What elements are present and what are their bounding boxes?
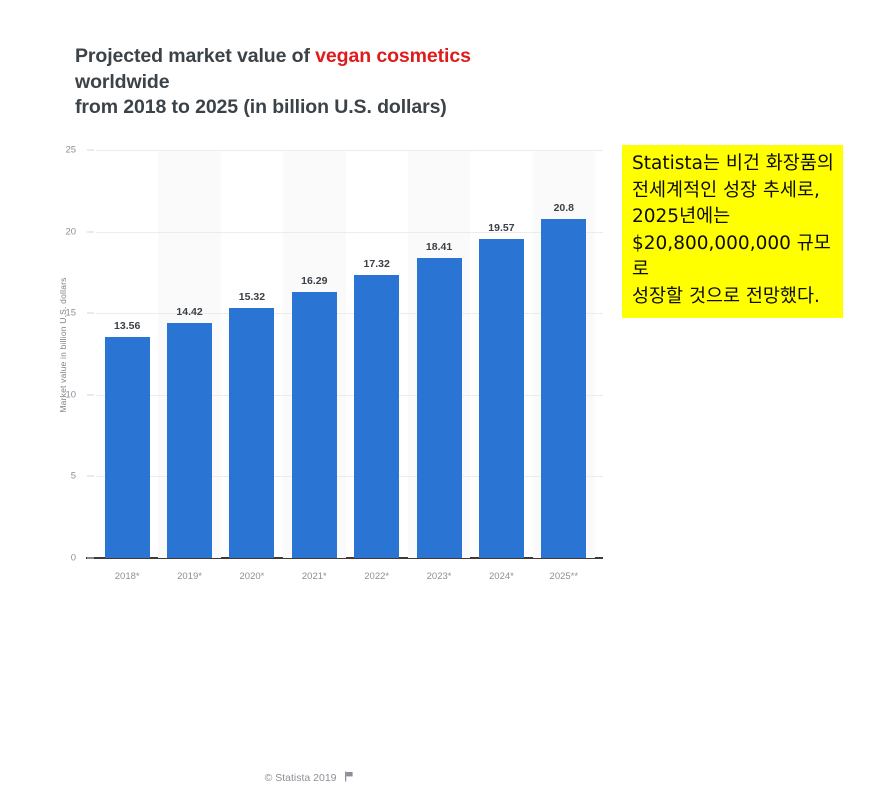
bar[interactable]: 17.322022* (354, 275, 399, 558)
y-tick-mark (87, 476, 94, 477)
x-tick-label: 2022* (364, 571, 389, 582)
x-tick-label: 2024* (489, 571, 514, 582)
page-title: Projected market value of vegan cosmetic… (75, 44, 620, 121)
x-tick-label: 2020* (240, 571, 265, 582)
x-tick-label: 2025** (550, 571, 579, 582)
bar[interactable]: 13.562018* (105, 337, 150, 558)
bar[interactable]: 16.292021* (292, 292, 337, 558)
bar-value-label: 15.32 (239, 291, 265, 303)
plot-area: 051015202513.562018*14.422019*15.322020*… (96, 150, 595, 558)
y-tick-mark (87, 231, 94, 232)
y-tick-label: 0 (71, 553, 76, 564)
y-tick-mark (87, 394, 94, 395)
flag-icon (344, 771, 355, 785)
y-tick-label: 5 (71, 471, 76, 482)
bar[interactable]: 20.82025** (541, 219, 586, 558)
y-tick-label: 25 (65, 145, 76, 156)
title-text-accent: vegan cosmetics (315, 45, 471, 67)
chart-footer: © Statista 2019 (0, 771, 620, 785)
x-tick-label: 2021* (302, 571, 327, 582)
bar[interactable]: 15.322020* (229, 308, 274, 558)
gridline (96, 150, 603, 151)
x-tick-label: 2019* (177, 571, 202, 582)
bar-value-label: 19.57 (488, 222, 514, 234)
bar-value-label: 14.42 (176, 306, 202, 318)
copyright-label: © Statista 2019 (265, 772, 337, 784)
title-text-primary: Projected market value of (75, 45, 315, 67)
bar-value-label: 13.56 (114, 320, 140, 332)
bar[interactable]: 19.572024* (479, 239, 524, 558)
y-tick-mark (87, 558, 94, 559)
gridline (96, 313, 603, 314)
title-line-2: worldwide (75, 70, 620, 96)
title-line-3: from 2018 to 2025 (in billion U.S. dolla… (75, 95, 620, 121)
y-axis-title: Market value in billion U.S. dollars (58, 255, 68, 435)
y-tick-mark (87, 150, 94, 151)
bar[interactable]: 18.412023* (417, 258, 462, 558)
bar[interactable]: 14.422019* (167, 323, 212, 558)
title-line-1: Projected market value of vegan cosmetic… (75, 44, 620, 70)
x-tick-label: 2018* (115, 571, 140, 582)
bar-value-label: 17.32 (364, 258, 390, 270)
bar-chart: Market value in billion U.S. dollars 051… (0, 126, 620, 596)
bar-value-label: 16.29 (301, 275, 327, 287)
y-tick-label: 10 (65, 389, 76, 400)
x-tick-label: 2023* (427, 571, 452, 582)
y-tick-mark (87, 313, 94, 314)
y-tick-label: 15 (65, 308, 76, 319)
bar-value-label: 20.8 (554, 202, 574, 214)
y-tick-label: 20 (65, 226, 76, 237)
gridline (96, 232, 603, 233)
bar-value-label: 18.41 (426, 241, 452, 253)
annotation-callout: Statista는 비건 화장품의 전세계적인 성장 추세로, 2025년에는 … (622, 145, 843, 318)
